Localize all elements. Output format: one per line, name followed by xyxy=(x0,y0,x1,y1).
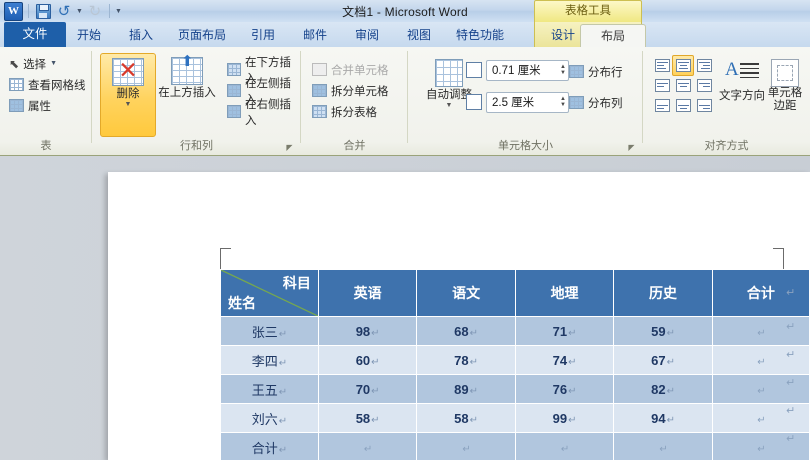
row-height-control[interactable]: 0.71 厘米 ▲▼ xyxy=(466,59,569,81)
cell-margins-button[interactable]: 单元格 边距 xyxy=(765,59,805,113)
document-page[interactable]: 科目 姓名 英语 语文 地理 历史 合计 张三↵ 98↵ 68↵ 71↵ 59↵… xyxy=(108,172,810,460)
cell-text: 94 xyxy=(651,411,665,426)
cell-text: 70 xyxy=(356,382,370,397)
group-label-cell-size: 单元格大小 xyxy=(408,137,643,153)
insert-left-icon xyxy=(227,84,241,97)
paragraph-mark-icon: ↵ xyxy=(786,348,795,361)
distribute-rows-button[interactable]: 分布行 xyxy=(566,61,626,82)
paragraph-mark-icon: ↵ xyxy=(786,286,795,299)
pilcrow-icon: ↵ xyxy=(279,387,287,398)
cell-text: 王五 xyxy=(252,383,278,398)
tab-layout[interactable]: 布局 xyxy=(580,24,646,49)
distribute-columns-button[interactable]: 分布列 xyxy=(566,92,626,113)
cell-3-1[interactable]: 58↵ xyxy=(417,404,515,433)
insert-above-label: 在上方插入 xyxy=(158,87,216,99)
pilcrow-icon: ↵ xyxy=(667,357,675,368)
distribute-rows-icon xyxy=(569,65,584,78)
row-height-input[interactable]: 0.71 厘米 ▲▼ xyxy=(486,60,569,81)
delete-label: 删除 xyxy=(117,88,140,100)
split-cells-button[interactable]: 拆分单元格 xyxy=(309,80,392,101)
cell-3-2[interactable]: 99↵ xyxy=(515,404,613,433)
insert-above-button[interactable]: ⬆ 在上方插入 xyxy=(154,53,220,135)
cell-text: 71 xyxy=(553,324,567,339)
cell-text: 67 xyxy=(651,353,665,368)
row-height-icon xyxy=(466,62,482,78)
tab-home[interactable]: 开始 xyxy=(60,24,118,47)
insert-right-icon xyxy=(227,105,241,118)
tab-mailings[interactable]: 邮件 xyxy=(286,24,344,47)
pilcrow-icon: ↵ xyxy=(568,386,576,397)
cell-text: 合计 xyxy=(252,441,278,456)
align-bottom-left-icon xyxy=(655,99,670,112)
cell-2-1[interactable]: 89↵ xyxy=(417,375,515,404)
cell-1-1[interactable]: 78↵ xyxy=(417,346,515,375)
row-height-value: 0.71 厘米 xyxy=(492,62,541,78)
align-bottom-center-icon xyxy=(676,99,691,112)
cell-name-0[interactable]: 张三↵ xyxy=(221,317,319,346)
cell-name-3[interactable]: 刘六↵ xyxy=(221,404,319,433)
paragraph-mark-icon: ↵ xyxy=(786,320,795,333)
cell-text: 58 xyxy=(454,411,468,426)
pilcrow-icon: ↵ xyxy=(568,357,576,368)
cell-1-3[interactable]: 67↵ xyxy=(614,346,712,375)
grades-table[interactable]: 科目 姓名 英语 语文 地理 历史 合计 张三↵ 98↵ 68↵ 71↵ 59↵… xyxy=(220,269,810,460)
cell-text: 59 xyxy=(651,324,665,339)
align-middle-left-button[interactable] xyxy=(651,75,673,96)
select-label: 选择 xyxy=(23,56,46,72)
title-bar: W ↺ ▼ ↻ ▼ 文档1 - Microsoft Word 表格工具 xyxy=(0,0,810,23)
pilcrow-icon: ↵ xyxy=(667,328,675,339)
cell-4-0[interactable]: ↵ xyxy=(318,433,416,460)
distribute-columns-icon xyxy=(569,96,584,109)
column-width-input[interactable]: 2.5 厘米 ▲▼ xyxy=(486,92,569,113)
cell-2-0[interactable]: 70↵ xyxy=(318,375,416,404)
column-header-english[interactable]: 英语 xyxy=(318,270,416,317)
cell-2-3[interactable]: 82↵ xyxy=(614,375,712,404)
ribbon-group-rows-columns: ✕ 删除 ▼ ⬆ 在上方插入 在下方插入 在左侧插入 在右侧插入 xyxy=(92,47,301,155)
tab-page-layout[interactable]: 页面布局 xyxy=(164,24,240,47)
align-bottom-center-button[interactable] xyxy=(672,95,694,116)
word-window: W ↺ ▼ ↻ ▼ 文档1 - Microsoft Word 表格工具 文件 开… xyxy=(0,0,810,460)
pilcrow-icon: ↵ xyxy=(279,445,287,456)
properties-button[interactable]: 属性 xyxy=(6,95,89,116)
cell-0-2[interactable]: 71↵ xyxy=(515,317,613,346)
align-bottom-right-button[interactable] xyxy=(693,95,715,116)
cell-text: 74 xyxy=(553,353,567,368)
cell-text: 76 xyxy=(553,382,567,397)
cell-text: 张三 xyxy=(252,325,278,340)
contextual-tab-title: 表格工具 xyxy=(534,0,642,23)
cell-3-0[interactable]: 58↵ xyxy=(318,404,416,433)
column-header-geography[interactable]: 地理 xyxy=(515,270,613,317)
group-label-merge: 合并 xyxy=(301,137,408,153)
properties-icon xyxy=(9,99,24,112)
tab-view[interactable]: 视图 xyxy=(390,24,448,47)
header-subject-label: 科目 xyxy=(283,273,311,293)
autofit-icon xyxy=(435,59,463,87)
delete-button[interactable]: ✕ 删除 ▼ xyxy=(100,53,156,137)
align-bottom-left-button[interactable] xyxy=(651,95,673,116)
cell-3-3[interactable]: 94↵ xyxy=(614,404,712,433)
tab-file[interactable]: 文件 xyxy=(4,22,66,47)
group-label-rows-columns: 行和列 xyxy=(92,137,301,153)
table-row[interactable]: 张三↵ 98↵ 68↵ 71↵ 59↵ ↵ xyxy=(221,317,810,346)
cell-text: 李四 xyxy=(252,354,278,369)
pilcrow-icon: ↵ xyxy=(371,415,379,426)
pilcrow-icon: ↵ xyxy=(279,416,287,427)
align-top-center-button[interactable] xyxy=(672,55,694,76)
pilcrow-icon: ↵ xyxy=(371,386,379,397)
split-table-button[interactable]: 拆分表格 xyxy=(309,101,392,122)
cell-text: 68 xyxy=(454,324,468,339)
text-direction-icon: A xyxy=(725,59,759,87)
cell-0-1[interactable]: 68↵ xyxy=(417,317,515,346)
cell-text: 98 xyxy=(356,324,370,339)
ribbon-tab-strip[interactable]: 文件 开始 插入 页面布局 引用 邮件 审阅 视图 特色功能 设计 布局 xyxy=(0,22,810,48)
pilcrow-icon: ↵ xyxy=(279,358,287,369)
pilcrow-icon: ↵ xyxy=(757,415,765,426)
paragraph-mark-icon: ↵ xyxy=(786,404,795,417)
table-row[interactable]: 李四↵ 60↵ 78↵ 74↵ 67↵ ↵ xyxy=(221,346,810,375)
cell-margins-label-1: 单元格 xyxy=(768,87,803,100)
document-workspace[interactable]: 科目 姓名 英语 语文 地理 历史 合计 张三↵ 98↵ 68↵ 71↵ 59↵… xyxy=(0,156,810,460)
delete-dropdown-icon[interactable]: ▼ xyxy=(125,101,132,109)
table-corner-handle-right[interactable] xyxy=(773,248,784,271)
insert-right-label: 在右侧插入 xyxy=(245,96,298,128)
align-middle-center-icon xyxy=(676,79,691,92)
cell-1-0[interactable]: 60↵ xyxy=(318,346,416,375)
table-row[interactable]: 王五↵ 70↵ 89↵ 76↵ 82↵ ↵ xyxy=(221,375,810,404)
cursor-select-icon: ⬉ xyxy=(9,58,19,70)
merge-cells-icon xyxy=(312,63,327,76)
ribbon-group-alignment: A 文字方向 单元格 边距 对齐方式 xyxy=(643,47,810,155)
cell-name-2[interactable]: 王五↵ xyxy=(221,375,319,404)
pilcrow-icon: ↵ xyxy=(279,329,287,340)
column-header-chinese[interactable]: 语文 xyxy=(417,270,515,317)
pilcrow-icon: ↵ xyxy=(667,415,675,426)
table-row[interactable]: 刘六↵ 58↵ 58↵ 99↵ 94↵ ↵ xyxy=(221,404,810,433)
pilcrow-icon: ↵ xyxy=(757,444,765,455)
column-width-icon xyxy=(466,94,482,110)
cell-text: 99 xyxy=(553,411,567,426)
table-row[interactable]: 合计↵ ↵ ↵ ↵ ↵ ↵ xyxy=(221,433,810,460)
group-label-table: 表 xyxy=(0,137,92,153)
pilcrow-icon: ↵ xyxy=(568,415,576,426)
cell-text: 刘六 xyxy=(252,412,278,427)
align-middle-right-button[interactable] xyxy=(693,75,715,96)
cell-margins-label-2: 边距 xyxy=(774,100,797,113)
cell-0-0[interactable]: 98↵ xyxy=(318,317,416,346)
cell-name-1[interactable]: 李四↵ xyxy=(221,346,319,375)
properties-label: 属性 xyxy=(28,98,51,114)
cell-text: 78 xyxy=(454,353,468,368)
cell-text: 60 xyxy=(356,353,370,368)
view-gridlines-label: 查看网格线 xyxy=(28,77,86,93)
cell-text: 89 xyxy=(454,382,468,397)
align-middle-center-button[interactable] xyxy=(672,75,694,96)
select-button[interactable]: ⬉ 选择 ▼ xyxy=(6,53,89,74)
pilcrow-icon: ↵ xyxy=(371,357,379,368)
tab-insert[interactable]: 插入 xyxy=(112,24,170,47)
delete-table-icon: ✕ xyxy=(112,58,144,86)
paragraph-mark-icon: ↵ xyxy=(786,432,795,445)
cell-margins-icon xyxy=(771,59,799,87)
align-middle-left-icon xyxy=(655,79,670,92)
pilcrow-icon: ↵ xyxy=(470,386,478,397)
paragraph-mark-icon: ↵ xyxy=(786,376,795,389)
cell-name-4[interactable]: 合计↵ xyxy=(221,433,319,460)
split-cells-label: 拆分单元格 xyxy=(331,83,389,99)
cell-0-3[interactable]: 59↵ xyxy=(614,317,712,346)
insert-right-button[interactable]: 在右侧插入 xyxy=(224,101,301,122)
pilcrow-icon: ↵ xyxy=(757,357,765,368)
autofit-dropdown-icon[interactable]: ▼ xyxy=(446,102,453,110)
text-direction-button[interactable]: A 文字方向 xyxy=(719,59,765,103)
tab-special[interactable]: 特色功能 xyxy=(442,24,518,47)
column-width-control[interactable]: 2.5 厘米 ▲▼ xyxy=(466,91,569,113)
merge-cells-button: 合并单元格 xyxy=(309,59,392,80)
pilcrow-icon: ↵ xyxy=(371,328,379,339)
table-header-row: 科目 姓名 英语 语文 地理 历史 合计 xyxy=(221,270,810,317)
align-top-right-button[interactable] xyxy=(693,55,715,76)
ribbon: ⬉ 选择 ▼ 查看网格线 属性 表 ✕ 删除 ▼ xyxy=(0,47,810,156)
cell-size-dialog-launcher[interactable]: ◤ xyxy=(627,143,636,152)
align-top-right-icon xyxy=(697,59,712,72)
pilcrow-icon: ↵ xyxy=(462,444,470,455)
pilcrow-icon: ↵ xyxy=(470,357,478,368)
split-table-icon xyxy=(312,105,327,118)
align-top-center-icon xyxy=(676,59,691,72)
cell-4-2[interactable]: ↵ xyxy=(515,433,613,460)
ribbon-group-cell-size: 自动调整 ▼ 0.71 厘米 ▲▼ 2.5 厘米 ▲▼ xyxy=(408,47,643,155)
cell-4-3[interactable]: ↵ xyxy=(614,433,712,460)
ribbon-group-merge: 合并单元格 拆分单元格 拆分表格 合并 xyxy=(301,47,408,155)
column-header-history[interactable]: 历史 xyxy=(614,270,712,317)
column-width-value: 2.5 厘米 xyxy=(492,94,534,110)
align-top-left-button[interactable] xyxy=(651,55,673,76)
split-table-label: 拆分表格 xyxy=(331,104,377,120)
view-gridlines-button[interactable]: 查看网格线 xyxy=(6,74,89,95)
align-bottom-right-icon xyxy=(697,99,712,112)
cell-text: 82 xyxy=(651,382,665,397)
pilcrow-icon: ↵ xyxy=(364,444,372,455)
pilcrow-icon: ↵ xyxy=(561,444,569,455)
text-direction-label: 文字方向 xyxy=(719,87,765,103)
distribute-columns-label: 分布列 xyxy=(588,95,623,111)
pilcrow-icon: ↵ xyxy=(659,444,667,455)
cell-text: 58 xyxy=(356,411,370,426)
distribute-rows-label: 分布行 xyxy=(588,64,623,80)
pilcrow-icon: ↵ xyxy=(470,328,478,339)
insert-above-icon: ⬆ xyxy=(171,57,203,85)
pilcrow-icon: ↵ xyxy=(470,415,478,426)
insert-below-icon xyxy=(227,63,241,76)
cell-4-1[interactable]: ↵ xyxy=(417,433,515,460)
split-cells-icon xyxy=(312,84,327,97)
pilcrow-icon: ↵ xyxy=(757,386,765,397)
diagonal-header-cell[interactable]: 科目 姓名 xyxy=(221,270,319,317)
table-corner-handle-left[interactable] xyxy=(220,248,231,271)
align-top-left-icon xyxy=(655,59,670,72)
pilcrow-icon: ↵ xyxy=(757,328,765,339)
gridlines-icon xyxy=(9,78,24,91)
ribbon-group-table: ⬉ 选择 ▼ 查看网格线 属性 表 xyxy=(0,47,92,155)
pilcrow-icon: ↵ xyxy=(568,328,576,339)
align-middle-right-icon xyxy=(697,79,712,92)
pilcrow-icon: ↵ xyxy=(667,386,675,397)
group-label-alignment: 对齐方式 xyxy=(643,137,810,153)
merge-cells-label: 合并单元格 xyxy=(331,62,389,78)
alignment-grid[interactable] xyxy=(651,55,713,114)
cell-1-2[interactable]: 74↵ xyxy=(515,346,613,375)
header-name-label: 姓名 xyxy=(228,293,256,313)
rows-columns-dialog-launcher[interactable]: ◤ xyxy=(285,143,294,152)
tab-review[interactable]: 审阅 xyxy=(338,24,396,47)
window-title: 文档1 - Microsoft Word xyxy=(0,3,810,20)
cell-2-2[interactable]: 76↵ xyxy=(515,375,613,404)
tab-references[interactable]: 引用 xyxy=(234,24,292,47)
select-dropdown-icon[interactable]: ▼ xyxy=(50,60,57,67)
